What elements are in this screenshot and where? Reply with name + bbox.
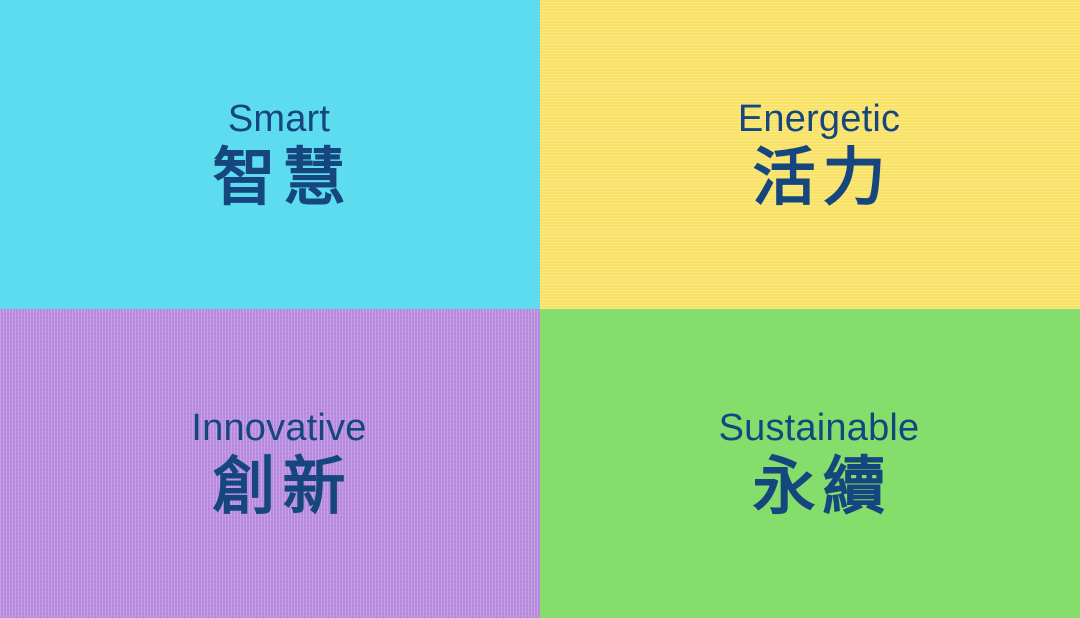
quadrant-sustainable-chinese-label: 永續 <box>719 456 920 519</box>
label-stack-sustainable: Sustainable 永續 <box>719 409 920 519</box>
quadrant-innovative-chinese-label: 創新 <box>191 456 366 519</box>
quadrant-innovative: Innovative 創新 <box>0 309 540 618</box>
label-stack-innovative: Innovative 創新 <box>191 409 366 519</box>
quadrant-smart: Smart 智慧 <box>0 0 540 309</box>
quadrant-energetic-chinese-label: 活力 <box>738 147 900 210</box>
quadrant-energetic-english-label: Energetic <box>738 100 900 138</box>
brand-values-board: Smart 智慧 Energetic 活力 Innovative 創新 Sust… <box>0 0 1080 618</box>
label-stack-smart: Smart 智慧 <box>206 100 353 210</box>
label-stack-energetic: Energetic 活力 <box>738 100 900 210</box>
quadrant-smart-chinese-label: 智慧 <box>206 147 353 210</box>
quadrant-sustainable: Sustainable 永續 <box>540 309 1080 618</box>
quadrant-sustainable-english-label: Sustainable <box>719 409 920 447</box>
quadrant-smart-english-label: Smart <box>206 100 353 138</box>
quadrant-innovative-english-label: Innovative <box>191 409 366 447</box>
quadrant-energetic: Energetic 活力 <box>540 0 1080 309</box>
